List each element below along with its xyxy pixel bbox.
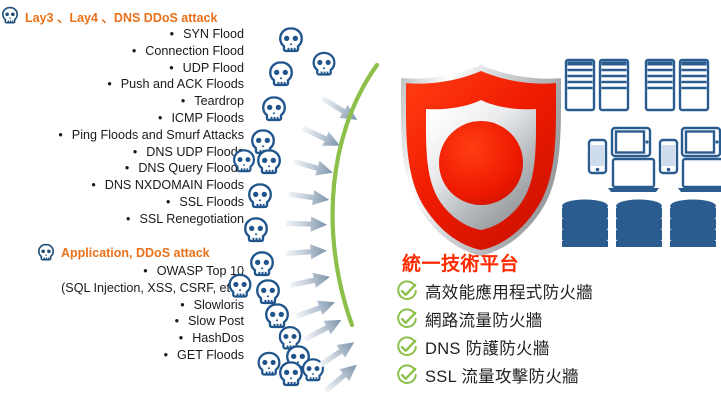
skull-icon xyxy=(276,360,306,390)
arrow-right-icon xyxy=(287,185,332,214)
attack-list-item: •GET Floods xyxy=(0,347,248,364)
platform-feature-row: 網路流量防火牆 xyxy=(396,305,721,333)
arrow-right-icon xyxy=(288,268,334,299)
skull-icon xyxy=(266,60,296,90)
skull-icon xyxy=(248,128,278,158)
attack-group-application: Application, DDoS attack •OWASP Top 10•(… xyxy=(0,243,248,364)
attack-list-item-label: HashDos xyxy=(192,331,244,345)
bullet-icon: • xyxy=(126,211,139,228)
bullet-icon: • xyxy=(143,263,156,280)
arrow-right-icon xyxy=(320,357,367,402)
bullet-icon: • xyxy=(164,347,177,364)
attack-list-item-label: Connection Flood xyxy=(145,44,244,58)
attack-list-item: •Slow Post xyxy=(0,313,248,330)
bullet-icon: • xyxy=(132,43,145,60)
skull-icon xyxy=(255,351,284,380)
bullet-icon: • xyxy=(169,60,182,77)
attack-list-item: •Push and ACK Floods xyxy=(0,76,248,93)
attack-group-heading: Application, DDoS attack xyxy=(0,243,248,263)
tablet-icon xyxy=(682,128,720,156)
bullet-icon: • xyxy=(107,76,120,93)
diagram-canvas: Lay3 、Lay4 、DNS DDoS attack •SYN Flood•C… xyxy=(0,0,721,420)
bullet-icon: • xyxy=(181,93,194,110)
attack-list-item: •SYN Flood xyxy=(0,26,248,43)
attack-list-item: •HashDos xyxy=(0,330,248,347)
platform-feature-row: 高效能應用程式防火牆 xyxy=(396,277,721,305)
attack-list-item-label: DNS NXDOMAIN Floods xyxy=(105,178,244,192)
attack-list-item-label: SSL Floods xyxy=(179,195,244,209)
arrow-right-icon xyxy=(301,311,349,351)
database-icon xyxy=(562,200,716,248)
bullet-icon: • xyxy=(125,160,138,177)
attack-list-item: •Connection Flood xyxy=(0,43,248,60)
attack-list-item-label: ICMP Floods xyxy=(171,111,244,125)
attack-list-item: •DNS UDP Floods xyxy=(0,144,248,161)
skull-icon xyxy=(276,26,306,56)
laptop-icon xyxy=(608,159,659,192)
attack-list-item: •(SQL Injection, XSS, CSRF, etc.) xyxy=(0,280,248,297)
arrow-right-icon xyxy=(290,153,337,187)
bullet-icon: • xyxy=(91,177,104,194)
arrow-right-icon xyxy=(297,120,345,159)
arrow-right-icon xyxy=(315,91,363,133)
platform-feature-label: 網路流量防火牆 xyxy=(425,307,543,331)
attack-list-item: •DNS Query Floods xyxy=(0,160,248,177)
skull-icon xyxy=(262,302,292,332)
skull-icon xyxy=(276,325,304,353)
server-rack-icon xyxy=(646,60,674,110)
bullet-icon: • xyxy=(166,194,179,211)
attack-list-item-label: UDP Flood xyxy=(183,61,244,75)
platform-panel: 統一技術平台 高效能應用程式防火牆網路流量防火牆DNS 防護防火牆SSL 流量攻… xyxy=(396,253,721,389)
attack-list-item-label: Ping Floods and Smurf Attacks xyxy=(72,128,244,142)
attack-list-item-label: GET Floods xyxy=(177,348,244,362)
skull-icon xyxy=(310,51,339,80)
attack-list-item: •Ping Floods and Smurf Attacks xyxy=(0,127,248,144)
check-circle-icon xyxy=(396,364,418,386)
attack-list-item: •Slowloris xyxy=(0,297,248,314)
mobile-phone-icon xyxy=(589,140,606,173)
platform-feature-label: DNS 防護防火牆 xyxy=(425,335,550,359)
attack-list-item: •DNS NXDOMAIN Floods xyxy=(0,177,248,194)
bullet-icon: • xyxy=(170,26,183,43)
server-rack-icon xyxy=(566,60,594,110)
skull-icon xyxy=(247,250,277,280)
bullet-icon: • xyxy=(179,330,192,347)
platform-title: 統一技術平台 xyxy=(396,253,721,277)
attack-group-layer34: Lay3 、Lay4 、DNS DDoS attack •SYN Flood•C… xyxy=(0,6,248,228)
bullet-icon: • xyxy=(180,297,193,314)
laptop-icon xyxy=(678,159,721,192)
attack-list-item: •Teardrop xyxy=(0,93,248,110)
arrow-right-icon xyxy=(293,294,340,330)
skull-icon xyxy=(283,344,313,374)
platform-feature-list: 高效能應用程式防火牆網路流量防火牆DNS 防護防火牆SSL 流量攻擊防火牆 xyxy=(396,277,721,389)
arrow-right-icon xyxy=(315,334,363,377)
attack-group-title: Lay3 、Lay4 、DNS DDoS attack xyxy=(25,7,217,26)
platform-feature-label: 高效能應用程式防火牆 xyxy=(425,279,593,303)
attack-list-item-label: DNS UDP Floods xyxy=(146,145,244,159)
attack-group-title: Application, DDoS attack xyxy=(61,246,210,260)
attack-list-item-label: DNS Query Floods xyxy=(138,161,244,175)
server-rack-icon xyxy=(600,60,628,110)
attack-group-heading: Lay3 、Lay4 、DNS DDoS attack xyxy=(0,6,248,26)
attack-list-item-label: Slow Post xyxy=(188,314,244,328)
attack-list-item-label: SSL Renegotiation xyxy=(139,212,244,226)
skull-icon xyxy=(299,357,327,385)
attack-list-item-label: Teardrop xyxy=(194,94,244,108)
attack-list-item: •UDP Flood xyxy=(0,60,248,77)
attack-list-item: •SSL Renegotiation xyxy=(0,211,248,228)
attack-list-item: •ICMP Floods xyxy=(0,110,248,127)
check-circle-icon xyxy=(396,280,418,302)
skull-icon xyxy=(253,278,283,308)
skull-icon xyxy=(254,148,284,178)
platform-feature-row: DNS 防護防火牆 xyxy=(396,333,721,361)
attack-list-item: •OWASP Top 10 xyxy=(0,263,248,280)
mobile-phone-icon xyxy=(660,140,677,173)
attack-list-item: •SSL Floods xyxy=(0,194,248,211)
attack-item-list: •OWASP Top 10•(SQL Injection, XSS, CSRF,… xyxy=(0,263,248,364)
bullet-icon: • xyxy=(158,110,171,127)
attack-list-item-label: SYN Flood xyxy=(183,27,244,41)
attack-item-list: •SYN Flood•Connection Flood•UDP Flood•Pu… xyxy=(0,26,248,228)
arrow-right-icon xyxy=(285,242,329,268)
bullet-icon: • xyxy=(133,144,146,161)
platform-feature-label: SSL 流量攻擊防火牆 xyxy=(425,363,579,387)
protected-assets-group xyxy=(556,52,721,248)
check-circle-icon xyxy=(396,308,418,330)
bullet-icon: • xyxy=(175,313,188,330)
tablet-icon xyxy=(612,128,650,156)
shield-icon xyxy=(393,62,569,258)
bullet-icon: • xyxy=(58,127,71,144)
platform-feature-row: SSL 流量攻擊防火牆 xyxy=(396,361,721,389)
skull-icon xyxy=(245,182,275,212)
skull-icon xyxy=(259,95,289,125)
skull-icon xyxy=(36,243,56,263)
skull-icon xyxy=(0,6,20,26)
server-rack-icon xyxy=(680,60,708,110)
arrow-right-icon xyxy=(286,214,329,238)
attack-list-item-label: OWASP Top 10 xyxy=(157,264,244,278)
attack-list-item-label: Push and ACK Floods xyxy=(121,77,244,91)
attack-list-item-label: (SQL Injection, XSS, CSRF, etc.) xyxy=(61,281,244,295)
attack-list-item-label: Slowloris xyxy=(194,298,244,312)
check-circle-icon xyxy=(396,336,418,358)
